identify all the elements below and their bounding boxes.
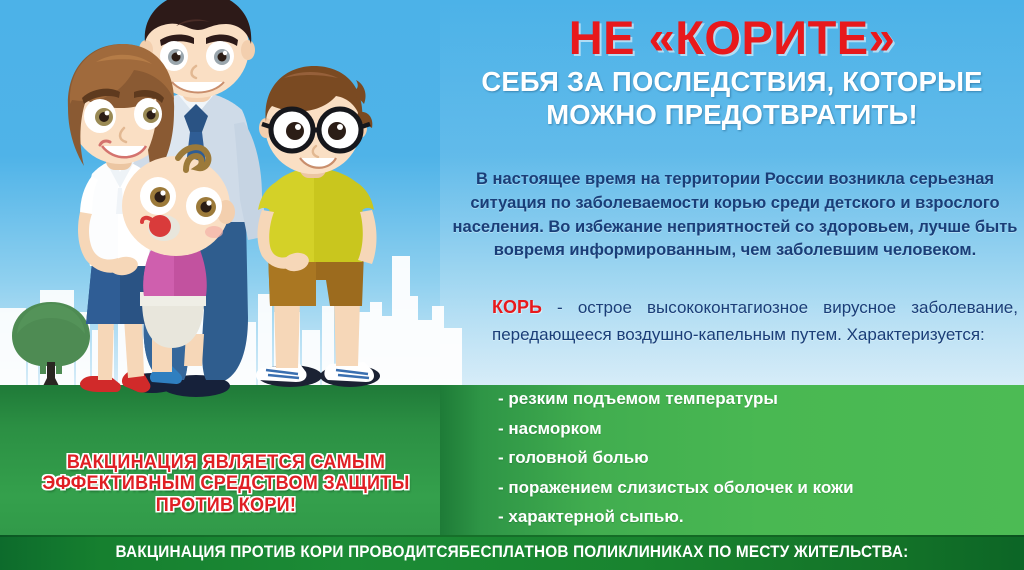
- list-item: - поражением слизистых оболочек и кожи: [498, 479, 1018, 496]
- family-illustration: [0, 0, 446, 400]
- definition-text: - острое высококонтагиозное вирусное заб…: [492, 298, 1018, 344]
- list-item: - головной болью: [498, 449, 1018, 466]
- banner-text-highlight: БЕСПЛАТНО: [459, 543, 558, 562]
- headline-line-3: МОЖНО ПРЕДОТВРАТИТЬ!: [446, 101, 1018, 130]
- list-item: - насморком: [498, 420, 1018, 437]
- list-item: - характерной сыпью.: [498, 508, 1018, 525]
- slogan-line-3: ПРОТИВ КОРИ!: [27, 495, 426, 516]
- figure-boy: [256, 66, 380, 387]
- definition-term: КОРЬ: [492, 297, 542, 317]
- vaccination-slogan: ВАКЦИНАЦИЯ ЯВЛЯЕТСЯ САМЫМ ЭФФЕКТИВНЫМ СР…: [16, 452, 436, 516]
- headline-line-1: НЕ «КОРИТЕ»: [440, 14, 1024, 62]
- slogan-line-1: ВАКЦИНАЦИЯ ЯВЛЯЕТСЯ САМЫМ: [27, 452, 426, 473]
- banner-text: ВАКЦИНАЦИЯ ПРОТИВ КОРИ ПРОВОДИТСЯ БЕСПЛА…: [36, 535, 988, 570]
- symptoms-list: - резким подъемом температуры - насморко…: [498, 390, 1018, 538]
- banner-text-after: В ПОЛИКЛИНИКАХ ПО МЕСТУ ЖИТЕЛЬСТВА:: [557, 543, 908, 562]
- list-item: - резким подъемом температуры: [498, 390, 1018, 407]
- headline-line-2: СЕБЯ ЗА ПОСЛЕДСТВИЯ, КОТОРЫЕ: [446, 68, 1018, 97]
- definition-paragraph: КОРЬ - острое высококонтагиозное вирусно…: [492, 294, 1018, 348]
- intro-paragraph: В настоящее время на территории России в…: [452, 168, 1018, 263]
- page-title: НЕ «КОРИТЕ» СЕБЯ ЗА ПОСЛЕДСТВИЯ, КОТОРЫЕ…: [440, 14, 1024, 130]
- measles-awareness-poster: НЕ «КОРИТЕ» СЕБЯ ЗА ПОСЛЕДСТВИЯ, КОТОРЫЕ…: [0, 0, 1024, 570]
- slogan-line-2: ЭФФЕКТИВНЫМ СРЕДСТВОМ ЗАЩИТЫ: [27, 473, 426, 494]
- banner-text-before: ВАКЦИНАЦИЯ ПРОТИВ КОРИ ПРОВОДИТСЯ: [116, 543, 459, 562]
